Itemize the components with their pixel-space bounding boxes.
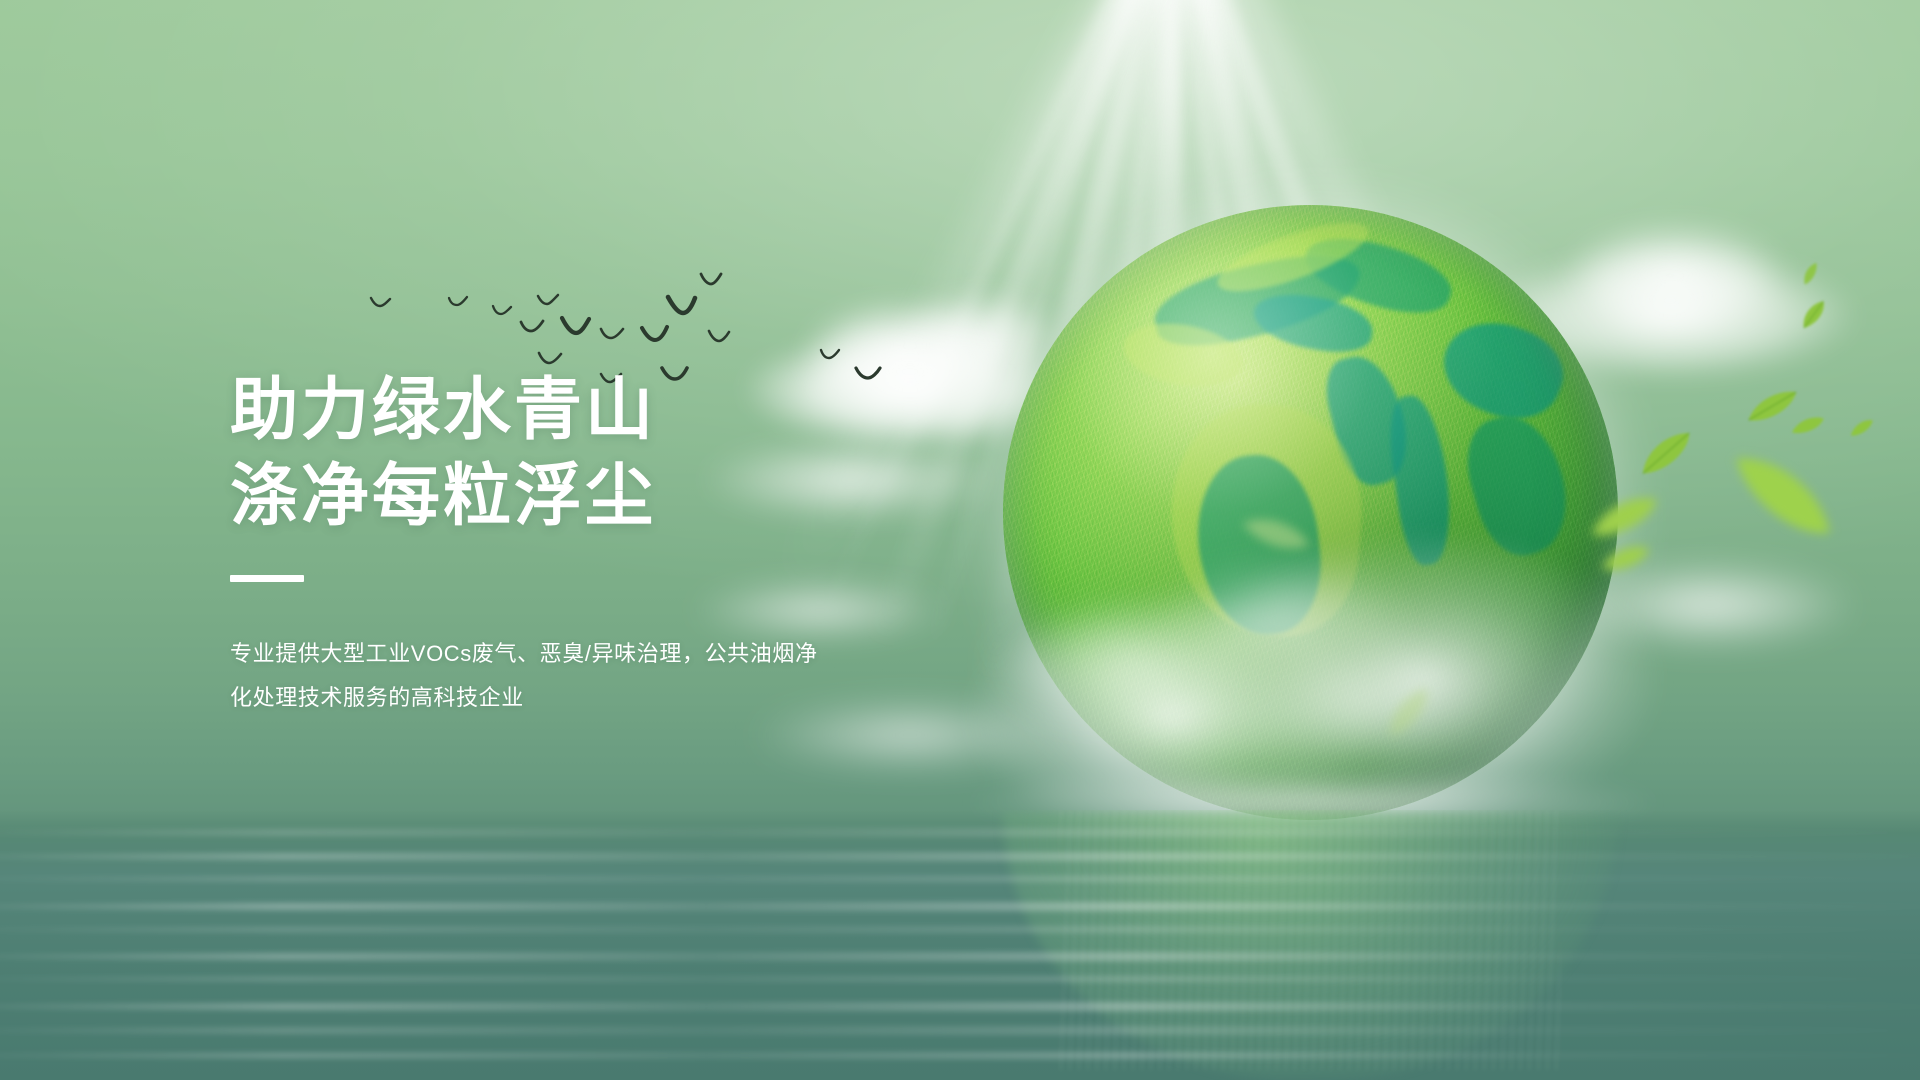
water-surface-reflection [0,810,1920,1080]
bird-icon [700,272,722,286]
bird-icon [520,320,544,334]
bird-icon [538,352,562,365]
bird-icon [560,316,590,336]
bird-icon [370,297,392,309]
headline-line-2: 涤净每粒浮尘 [230,454,990,540]
subtitle-line-1: 专业提供大型工业VOCs废气、恶臭/异味治理，公共油烟净 [230,632,890,676]
hero-copy: 助力绿水青山 涤净每粒浮尘 专业提供大型工业VOCs废气、恶臭/异味治理，公共油… [230,368,990,720]
bird-icon [448,296,468,308]
page-title: 助力绿水青山 涤净每粒浮尘 [230,368,990,539]
bird-icon [666,295,696,315]
bird-icon [820,348,840,360]
bird-icon [537,294,559,307]
bird-icon [708,330,730,343]
bird-icon [640,325,668,343]
hero-subtitle: 专业提供大型工业VOCs废气、恶臭/异味治理，公共油烟净 化处理技术服务的高科技… [230,632,890,720]
bird-icon [492,305,512,317]
headline-line-1: 助力绿水青山 [230,368,990,454]
subtitle-line-2: 化处理技术服务的高科技企业 [230,676,890,720]
divider-rule [230,575,304,582]
bird-icon [600,327,624,340]
eco-hero-banner: 助力绿水青山 涤净每粒浮尘 专业提供大型工业VOCs废气、恶臭/异味治理，公共油… [0,0,1920,1080]
